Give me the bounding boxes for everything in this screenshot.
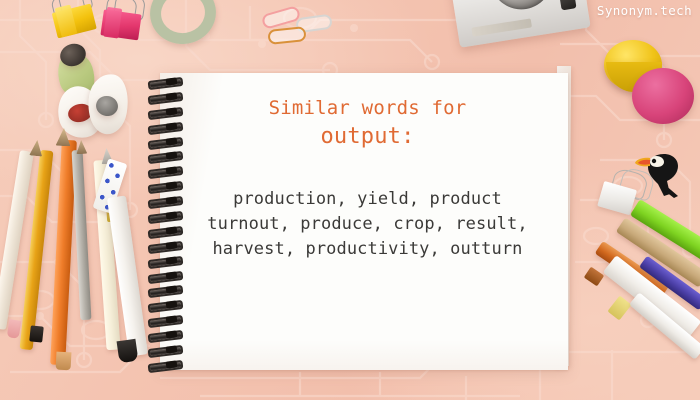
spiral-ring <box>146 316 184 323</box>
spiral-ring <box>146 167 184 174</box>
spiral-ring <box>146 138 184 145</box>
spiral-ring <box>146 182 184 189</box>
spiral-ring <box>146 272 184 279</box>
macaron-pink <box>632 68 694 124</box>
spiral-ring <box>146 123 184 130</box>
spiral-ring <box>146 301 184 308</box>
pencil-orange-eraser <box>56 352 72 371</box>
spiral-ring <box>146 257 184 264</box>
synonym-line: turnout, produce, crop, result, <box>180 212 555 237</box>
headline-similar-words: Similar words for <box>180 95 555 121</box>
spiral-ring <box>146 331 184 338</box>
keyword-term: output: <box>180 121 555 153</box>
spiral-ring <box>146 242 184 249</box>
spiral-ring <box>146 227 184 234</box>
pencil-yellow-ferrule <box>29 325 44 342</box>
spiral-ring <box>146 152 184 159</box>
synonym-line: harvest, productivity, outturn <box>180 237 555 262</box>
site-watermark: Synonym.tech <box>597 3 692 18</box>
spiral-binding <box>146 78 184 368</box>
spiral-ring <box>146 346 184 353</box>
spiral-ring <box>146 78 184 85</box>
spiral-ring <box>146 361 184 368</box>
spiral-ring <box>146 197 184 204</box>
spiral-ring <box>146 286 184 293</box>
page-text-block: Similar words for output: production, yi… <box>180 95 555 262</box>
synonym-list: production, yield, product turnout, prod… <box>180 187 555 262</box>
spiral-ring <box>146 93 184 100</box>
screenshot-root: Similar words for output: production, yi… <box>0 0 700 400</box>
binder-clip-pink <box>98 5 146 45</box>
synonym-line: production, yield, product <box>180 187 555 212</box>
spiral-ring <box>146 212 184 219</box>
spiral-ring <box>146 108 184 115</box>
